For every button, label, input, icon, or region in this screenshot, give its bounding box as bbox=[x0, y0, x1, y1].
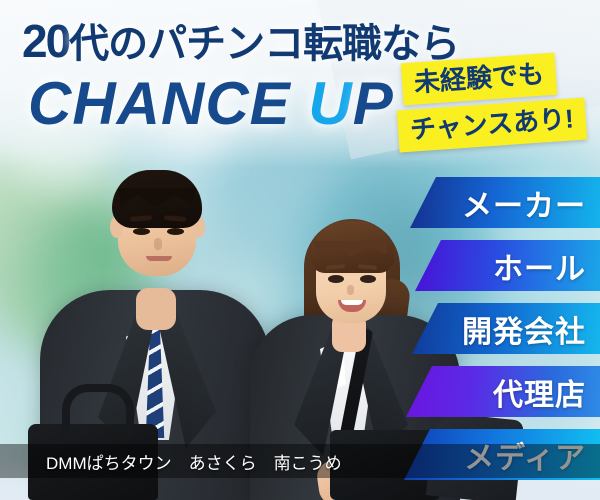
logo-letter-u: U bbox=[308, 70, 352, 137]
female-nose bbox=[347, 285, 354, 295]
category-label: メーカー bbox=[462, 181, 586, 225]
credit-bar: DMMぱちタウン あさくら 南こうめ bbox=[0, 444, 600, 478]
category-label: ホール bbox=[493, 244, 586, 288]
female-eye-left bbox=[328, 275, 344, 283]
brand-logo: CHANCE UP bbox=[28, 74, 394, 134]
category-banner-maker[interactable]: メーカー bbox=[410, 177, 600, 228]
category-banner-development[interactable]: 開発会社 bbox=[412, 303, 600, 354]
male-eye-left bbox=[133, 228, 150, 235]
female-eye-right bbox=[360, 275, 376, 283]
credit-text: DMMぱちタウン あさくら 南こうめ bbox=[46, 449, 342, 474]
male-eye-right bbox=[167, 228, 184, 235]
male-neck bbox=[136, 288, 176, 330]
briefcase-left-handle bbox=[62, 384, 134, 438]
headline-text: 代のパチンコ転職なら bbox=[69, 22, 459, 66]
page-title: 20代のパチンコ転職なら bbox=[22, 18, 459, 64]
logo-text-chance: CHANCE bbox=[28, 70, 308, 137]
category-label: 開発会社 bbox=[462, 307, 586, 351]
female-teeth bbox=[341, 300, 363, 305]
headline-number: 20 bbox=[22, 15, 69, 67]
category-banner-agency[interactable]: 代理店 bbox=[406, 366, 600, 417]
advertisement-banner[interactable]: 20代のパチンコ転職なら CHANCE UP 未経験でも チャンスあり! メーカ… bbox=[0, 0, 600, 500]
male-mouth bbox=[146, 256, 172, 261]
category-banner-hall[interactable]: ホール bbox=[415, 240, 600, 291]
logo-letter-p: P bbox=[353, 70, 394, 137]
male-nose bbox=[154, 238, 162, 250]
category-label: 代理店 bbox=[493, 370, 586, 414]
